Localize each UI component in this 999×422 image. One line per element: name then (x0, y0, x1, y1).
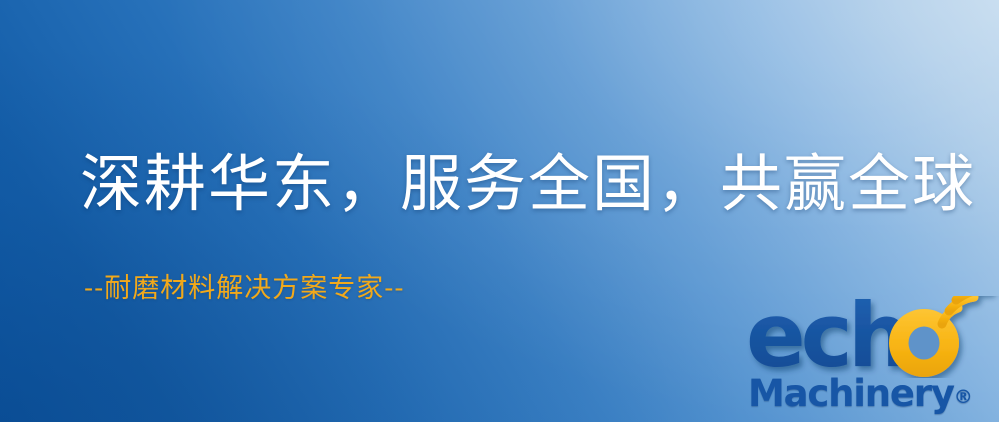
logo-tagline: Machinery® (748, 372, 973, 415)
banner-subtitle: --耐磨材料解决方案专家-- (84, 266, 405, 305)
registered-trademark-icon: ® (954, 386, 973, 408)
echo-wordmark: ech (746, 296, 999, 378)
hero-banner: 深耕华东，服务全国，共赢全球 --耐磨材料解决方案专家-- (0, 0, 999, 422)
company-logo[interactable]: ech Machinery® (746, 296, 999, 422)
signal-arcs-icon (942, 296, 989, 324)
logo-letters-ech: ech (746, 296, 906, 378)
page-title: 深耕华东，服务全国，共赢全球 (80, 148, 940, 219)
logo-tagline-text: Machinery (748, 372, 954, 415)
